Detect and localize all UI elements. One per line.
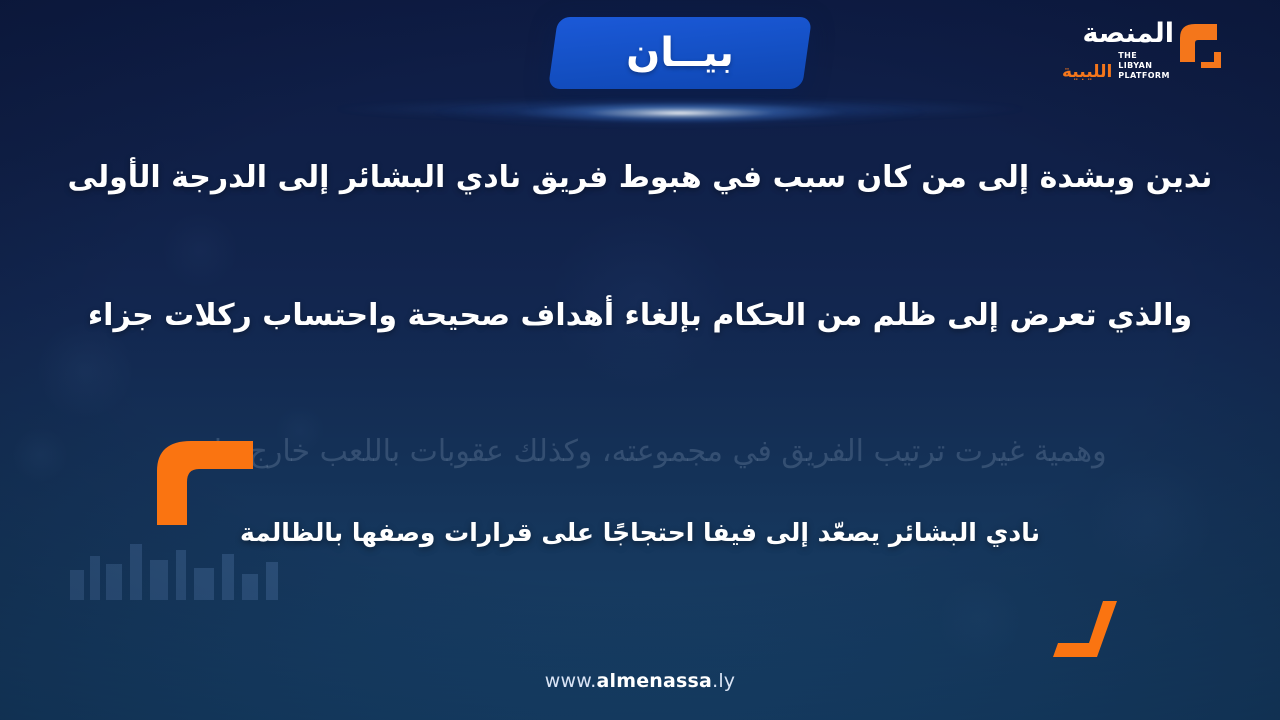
logo: المنصة THE LIBYAN PLATFORM الليبية [1062,18,1230,84]
headline: نادي البشائر يصعّد إلى فيفا احتجاجًا على… [0,518,1280,547]
banner-label: بيــان [553,17,807,89]
logo-english-line1: THE LIBYAN [1118,51,1174,71]
footer-site-name: almenassa [596,670,712,692]
logo-english: THE LIBYAN PLATFORM [1118,51,1174,81]
banner: بيــان [553,17,807,89]
orange-ell-icon [1053,601,1123,657]
logo-wordmark: المنصة THE LIBYAN PLATFORM الليبية [1062,20,1174,81]
logo-arabic-main: المنصة [1062,20,1174,47]
statement-graphic: بيــان المنصة THE LIBYAN PLATFORM الليبي… [0,0,1280,720]
banner-glow-wide [330,96,1030,122]
statement-line-1: ندين وبشدة إلى من كان سبب في هبوط فريق ن… [0,160,1280,195]
footer-suffix: .ly [712,670,735,692]
logo-english-line2: PLATFORM [1118,71,1174,81]
statement-line-2: والذي تعرض إلى ظلم من الحكام بإلغاء أهدا… [0,298,1280,333]
footer-website: www.almenassa.ly [0,670,1280,692]
logo-bracket-icon [1174,18,1232,82]
orange-hook-icon [157,441,253,525]
banner-glow [430,95,930,131]
logo-second-row: THE LIBYAN PLATFORM الليبية [1062,51,1174,81]
logo-arabic-sub: الليبية [1062,64,1112,81]
footer-prefix: www. [545,670,597,692]
